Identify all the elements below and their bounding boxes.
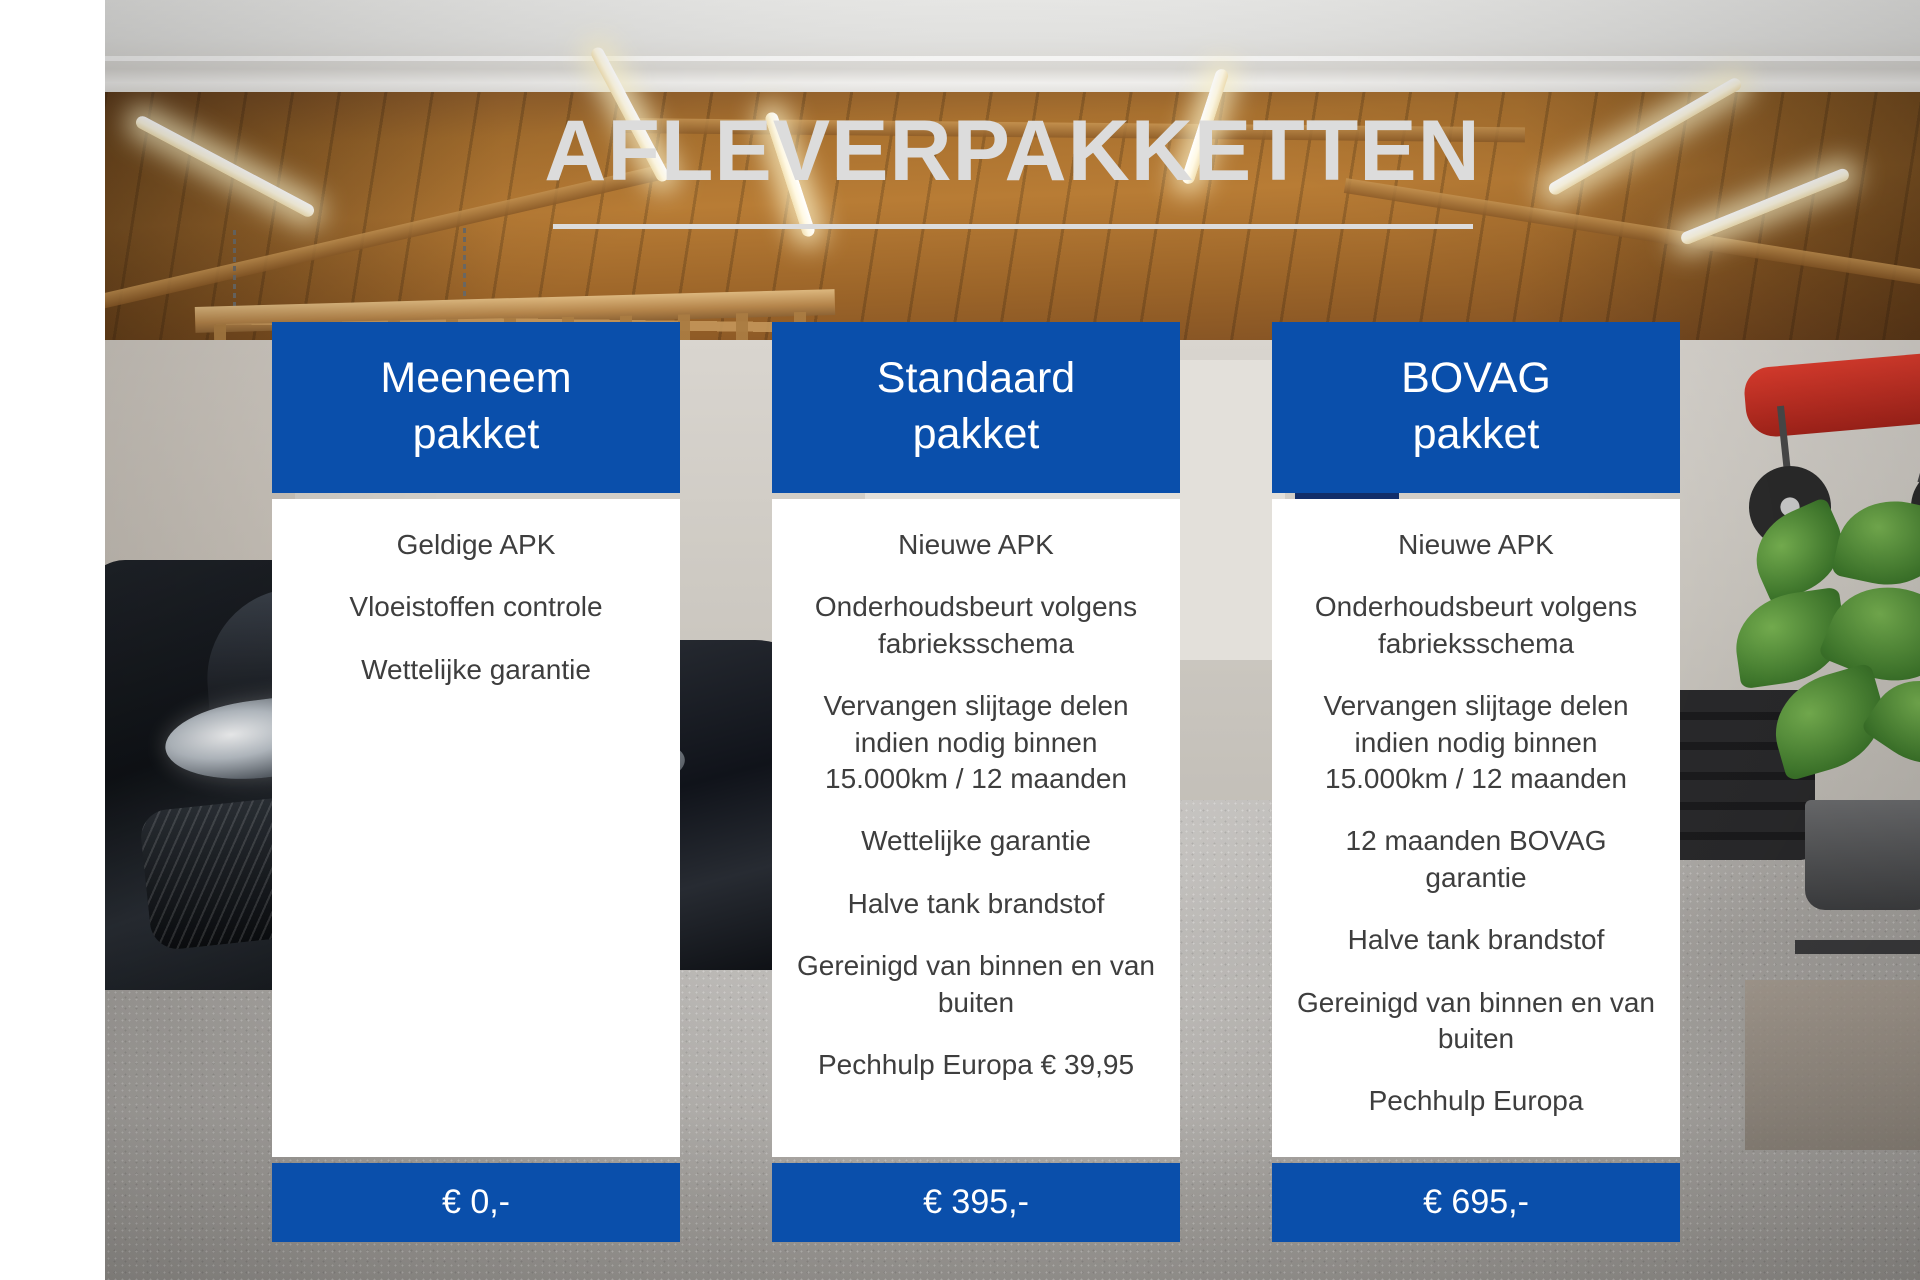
package-name-line1: Meeneem <box>380 351 571 406</box>
page-title: AFLEVERPAKKETTEN <box>105 108 1920 194</box>
floor-rug <box>1745 980 1920 1150</box>
package-header-bovag: BOVAG pakket <box>1272 322 1680 493</box>
feature-item: Gereinigd van binnen en van buiten <box>794 948 1158 1021</box>
feature-item: Nieuwe APK <box>1294 527 1658 563</box>
package-cards: Meeneem pakket Geldige APK Vloeistoffen … <box>272 322 1680 1242</box>
package-price-bovag[interactable]: € 695,- <box>1272 1163 1680 1242</box>
feature-item: Pechhulp Europa <box>1294 1083 1658 1119</box>
feature-item: Halve tank brandstof <box>794 886 1158 922</box>
package-price-standaard[interactable]: € 395,- <box>772 1163 1180 1242</box>
title-block: AFLEVERPAKKETTEN <box>105 108 1920 229</box>
large-green-plant <box>1735 500 1920 830</box>
feature-item: Vloeistoffen controle <box>294 589 658 625</box>
feature-item: Gereinigd van binnen en van buiten <box>1294 985 1658 1058</box>
plant-pot <box>1805 800 1920 910</box>
feature-item: Nieuwe APK <box>794 527 1158 563</box>
feature-item: Pechhulp Europa € 39,95 <box>794 1047 1158 1083</box>
title-underline <box>553 224 1473 229</box>
package-price-meeneem[interactable]: € 0,- <box>272 1163 680 1242</box>
plant-leaf <box>1831 490 1920 596</box>
ceiling-plaster-band <box>105 0 1920 96</box>
feature-item: Onderhoudsbeurt volgens fabrieksschema <box>1294 589 1658 662</box>
package-name-line2: pakket <box>877 407 1075 462</box>
package-header-meeneem: Meeneem pakket <box>272 322 680 493</box>
feature-item: Geldige APK <box>294 527 658 563</box>
package-card-meeneem[interactable]: Meeneem pakket Geldige APK Vloeistoffen … <box>272 322 680 1242</box>
package-name-line2: pakket <box>1401 407 1551 462</box>
package-features-standaard: Nieuwe APK Onderhoudsbeurt volgens fabri… <box>772 499 1180 1157</box>
package-card-bovag[interactable]: BOVAG pakket Nieuwe APK Onderhoudsbeurt … <box>1272 322 1680 1242</box>
package-name-line1: Standaard <box>877 351 1075 406</box>
slide-canvas: AFLEVERPAKKETTEN Meeneem pakket Geldige … <box>0 0 1920 1280</box>
feature-item: 12 maanden BOVAG garantie <box>1294 823 1658 896</box>
package-name-line1: BOVAG <box>1401 351 1551 406</box>
package-features-bovag: Nieuwe APK Onderhoudsbeurt volgens fabri… <box>1272 499 1680 1157</box>
feature-item: Wettelijke garantie <box>294 652 658 688</box>
package-features-meeneem: Geldige APK Vloeistoffen controle Wettel… <box>272 499 680 1157</box>
feature-item: Halve tank brandstof <box>1294 922 1658 958</box>
package-header-standaard: Standaard pakket <box>772 322 1180 493</box>
package-name-line2: pakket <box>380 407 571 462</box>
package-card-standaard[interactable]: Standaard pakket Nieuwe APK Onderhoudsbe… <box>772 322 1180 1242</box>
feature-item: Vervangen slijtage delen indien nodig bi… <box>794 688 1158 797</box>
feature-item: Wettelijke garantie <box>794 823 1158 859</box>
side-table <box>1795 940 1920 954</box>
feature-item: Onderhoudsbeurt volgens fabrieksschema <box>794 589 1158 662</box>
feature-item: Vervangen slijtage delen indien nodig bi… <box>1294 688 1658 797</box>
